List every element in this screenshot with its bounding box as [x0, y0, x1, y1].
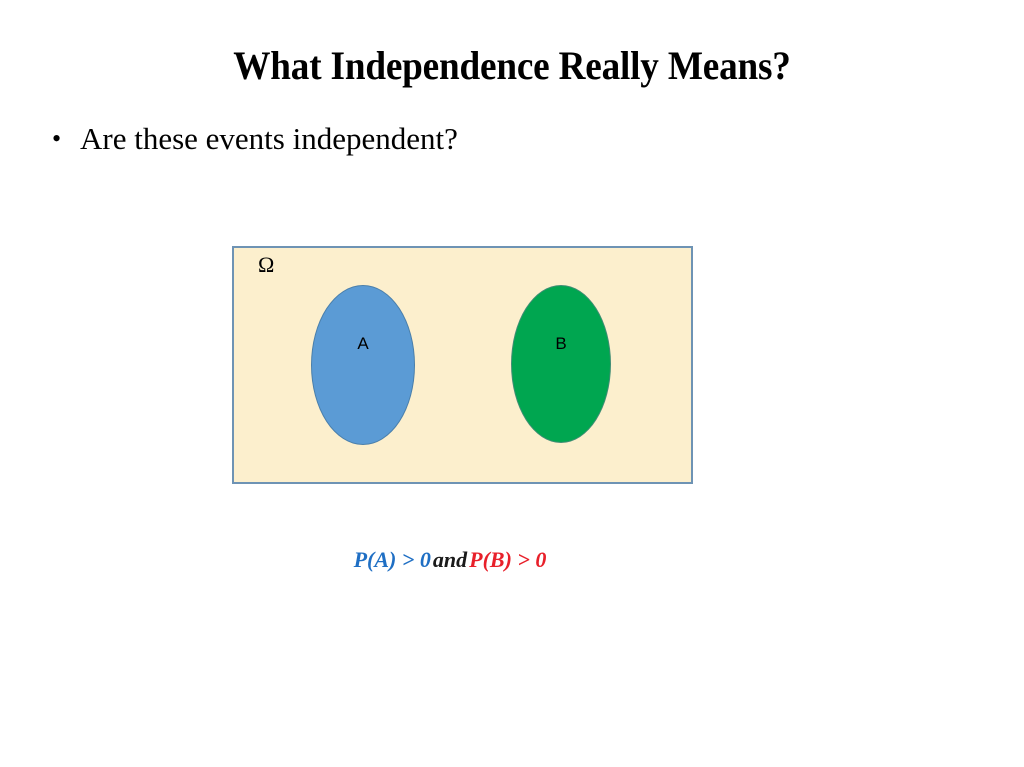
venn-diagram: Ω A B — [232, 246, 693, 484]
formula-left-expression: P(A) > 0 — [354, 547, 431, 572]
bullet-list-item: • Are these events independent? — [52, 120, 458, 158]
formula-conjunction: and — [431, 547, 469, 572]
page-title: What Independence Really Means? — [36, 43, 988, 89]
event-ellipse-a: A — [311, 285, 415, 445]
omega-label: Ω — [258, 252, 274, 278]
sample-space-rectangle — [232, 246, 693, 484]
probability-condition-formula: P(A) > 0andP(B) > 0 — [250, 546, 650, 574]
bullet-marker-icon: • — [52, 120, 80, 158]
event-ellipse-b: B — [511, 285, 611, 443]
slide-canvas: What Independence Really Means? • Are th… — [0, 0, 1024, 767]
event-label-b: B — [555, 334, 566, 354]
formula-right-expression: P(B) > 0 — [469, 547, 546, 572]
bullet-text: Are these events independent? — [80, 120, 458, 158]
event-label-a: A — [357, 334, 368, 354]
